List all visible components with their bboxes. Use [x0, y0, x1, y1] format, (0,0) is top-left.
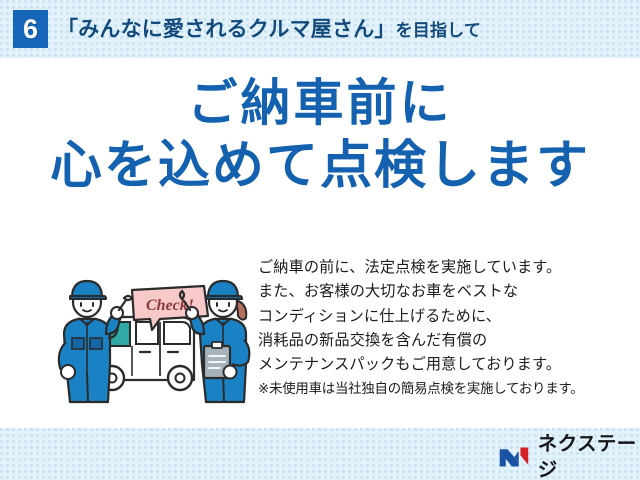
headline-line-1: ご納車前に — [0, 72, 640, 134]
mechanics-van-illustration: Check! — [52, 272, 260, 408]
header-title-main: 「みんなに愛されるクルマ屋さん」 — [57, 13, 396, 43]
brand-logo: ネクステージ — [498, 442, 640, 472]
body-line: コンディションに仕上げるために、 — [258, 305, 626, 329]
body-line: メンテナンスパックもご用意しております。 — [258, 353, 626, 377]
section-number-badge: 6 — [13, 10, 48, 48]
body-line: ご納車の前に、法定点検を実施しています。 — [258, 256, 626, 280]
body-line: 消耗品の新品交換を含んだ有償の — [258, 329, 626, 353]
body-copy: ご納車の前に、法定点検を実施しています。 また、お客様の大切なお車をベストな コ… — [258, 256, 626, 400]
header-title-suffix: を目指して — [396, 16, 482, 41]
header-title: 「みんなに愛されるクルマ屋さん」を目指して — [57, 13, 481, 45]
brand-name: ネクステージ — [538, 431, 640, 480]
body-line: また、お客様の大切なお車をベストな — [258, 280, 626, 304]
nextage-n-mark-icon — [498, 444, 531, 470]
promo-slide: 6 「みんなに愛されるクルマ屋さん」を目指して ご納車前に 心を込めて点検します… — [0, 0, 640, 480]
headline-line-2: 心を込めて点検します — [0, 134, 640, 198]
headline: ご納車前に 心を込めて点検します — [0, 72, 640, 198]
body-note: ※未使用車は当社独自の簡易点検を実施しております。 — [258, 377, 626, 400]
